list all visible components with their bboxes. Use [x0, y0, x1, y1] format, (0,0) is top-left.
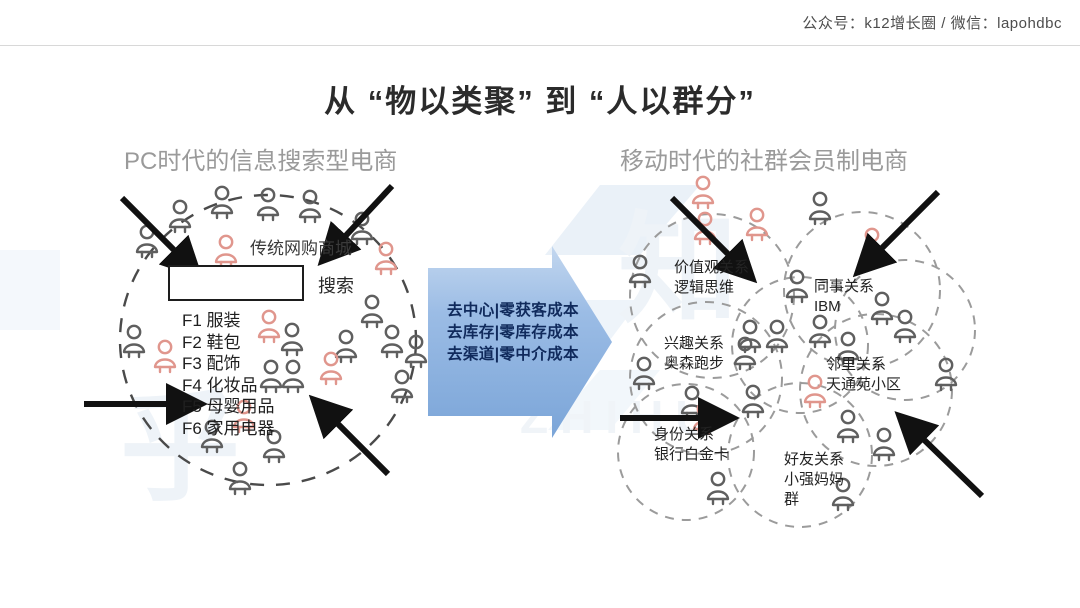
- cluster-label-values: 价值观关系 逻辑思维: [674, 258, 749, 298]
- cluster-label-interest: 兴趣关系 奥森跑步: [664, 334, 724, 374]
- list-item: F4 化妆品: [182, 375, 275, 397]
- category-list: F1 服装 F2 鞋包 F3 配饰 F4 化妆品 F5 母婴用品 F6 家用电器: [182, 310, 275, 439]
- transition-arrow-text: 去中心|零获客成本 去库存|零库存成本 去渠道|零中介成本: [447, 300, 579, 366]
- cluster-name: 身份关系: [654, 425, 729, 445]
- cluster-name: 兴趣关系: [664, 334, 724, 354]
- cluster-name: 邻里关系: [826, 355, 901, 375]
- cluster-detail: 银行白金卡: [654, 445, 729, 465]
- arrow-line: 去中心|零获客成本: [447, 300, 579, 322]
- cluster-name: 好友关系: [784, 450, 844, 470]
- arrow-line: 去库存|零库存成本: [447, 322, 579, 344]
- cluster-detail: 天通苑小区: [826, 375, 901, 395]
- cluster-extra: 群: [784, 490, 844, 510]
- cluster-label-friend: 好友关系 小强妈妈 群: [784, 450, 844, 510]
- search-input[interactable]: [168, 265, 304, 301]
- cluster-name: 价值观关系: [674, 258, 749, 278]
- cluster-detail: 逻辑思维: [674, 278, 749, 298]
- cluster-detail: IBM: [814, 297, 874, 317]
- search-label: 搜索: [318, 272, 354, 298]
- list-item: F5 母婴用品: [182, 396, 275, 418]
- cluster-label-identity: 身份关系 银行白金卡: [654, 425, 729, 465]
- list-item: F6 家用电器: [182, 418, 275, 440]
- arrow-line: 去渠道|零中介成本: [447, 344, 579, 366]
- list-item: F3 配饰: [182, 353, 275, 375]
- cluster-label-neighbor: 邻里关系 天通苑小区: [826, 355, 901, 395]
- list-item: F2 鞋包: [182, 332, 275, 354]
- traditional-mall-label: 传统网购商城: [250, 234, 352, 259]
- slide-canvas: 公众号：k12增长圈 / 微信：lapohdbc 从 “物以类聚” 到 “人以群…: [0, 0, 1080, 608]
- cluster-detail: 小强妈妈: [784, 470, 844, 490]
- cluster-label-colleague: 同事关系 IBM: [814, 277, 874, 317]
- list-item: F1 服装: [182, 310, 275, 332]
- cluster-name: 同事关系: [814, 277, 874, 297]
- cluster-detail: 奥森跑步: [664, 354, 724, 374]
